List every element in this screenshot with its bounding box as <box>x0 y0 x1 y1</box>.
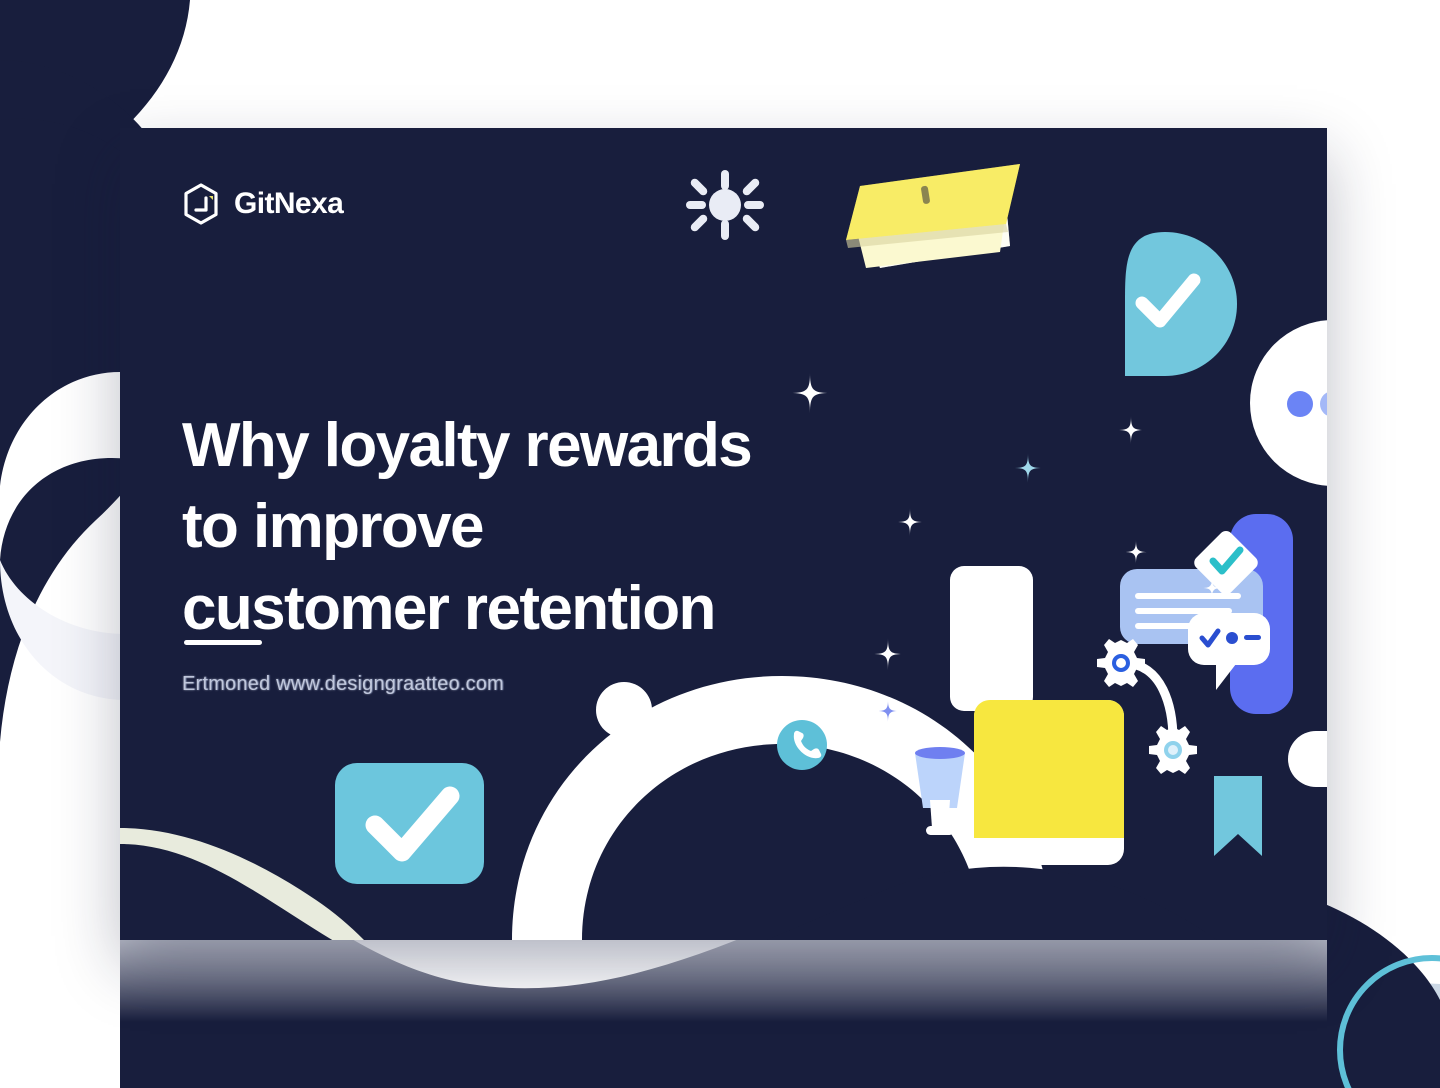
brand-name-label: GitNexa <box>234 189 343 219</box>
location-pin-check-icon <box>1125 232 1237 376</box>
white-pill-shape-upper <box>1288 731 1327 787</box>
sparkle-burst-icon <box>686 170 764 240</box>
white-card-shape <box>950 566 1033 711</box>
subtitle-website-text: Ertmoned www.designgraatteo.com <box>182 673 504 696</box>
page-title-line-1: Why loyalty rewards <box>182 405 842 487</box>
slide-card: GitNexa Why loyalty rewards to improve c… <box>120 128 1327 940</box>
brand-logo-group[interactable]: GitNexa <box>182 183 343 225</box>
check-square-badge-icon <box>335 763 484 884</box>
phone-call-icon <box>777 720 827 770</box>
page-title: Why loyalty rewards to improve customer … <box>182 405 842 650</box>
hexagon-logo-icon <box>182 183 220 225</box>
title-divider-rule <box>184 640 262 645</box>
sparkle-four-point-icon-3 <box>1013 453 1043 483</box>
sparkle-four-point-icon-2 <box>1117 416 1145 444</box>
slide-card-inner: GitNexa Why loyalty rewards to improve c… <box>120 128 1327 940</box>
graduation-cap-icon <box>846 164 1020 268</box>
presentation-slide-canvas: GitNexa Why loyalty rewards to improve c… <box>0 0 1440 1088</box>
sparkle-four-point-icon-7 <box>877 700 899 722</box>
yellow-card-shape <box>974 700 1124 865</box>
white-circle-dot <box>596 682 652 738</box>
trophy-goblet-icon <box>915 747 965 835</box>
bookmark-icon <box>1214 776 1262 856</box>
sparkle-four-point-icon-5 <box>896 508 924 536</box>
page-title-line-3: customer retention <box>182 568 842 650</box>
sparkle-four-point-icon-4 <box>1124 540 1148 564</box>
chat-bubble-dots-icon <box>1250 320 1327 486</box>
sparkle-four-point-icon-6 <box>872 638 904 670</box>
card-drop-shadow <box>120 930 1327 1022</box>
page-title-line-2: to improve <box>182 486 842 568</box>
